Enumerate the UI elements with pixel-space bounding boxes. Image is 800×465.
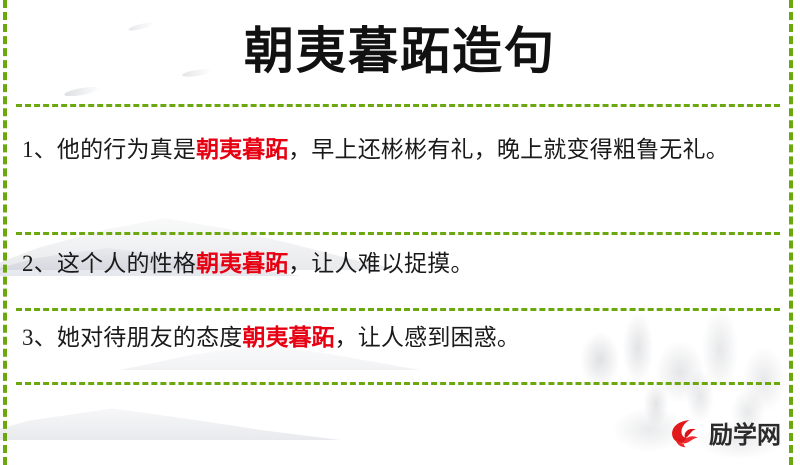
sentence-text-before: 她对待朋友的态度 [57,325,243,350]
list-item: 1、他的行为真是朝夷暮跖，早上还彬彬有礼，晚上就变得粗鲁无礼。 [22,130,774,170]
list-item: 2、这个人的性格朝夷暮跖，让人难以捉摸。 [22,244,774,284]
sentence-text-before: 这个人的性格 [57,251,196,276]
brush-stroke-icon [64,85,101,98]
sentence-text-after: ，让人难以捉摸。 [288,251,474,276]
sentence-text-after: ，早上还彬彬有礼，晚上就变得粗鲁无礼。 [288,137,729,162]
dashed-separator-1 [16,104,780,107]
list-item: 3、她对待朋友的态度朝夷暮跖，让人感到困惑。 [22,318,774,358]
page-title: 朝夷暮跖造句 [0,22,800,80]
sentence-text-after: ，让人感到困惑。 [335,325,521,350]
sentence-number: 3、 [22,325,57,350]
keyword-highlight: 朝夷暮跖 [196,250,288,277]
swirl-flame-icon [668,418,702,452]
dashed-separator-4 [16,382,780,385]
keyword-highlight: 朝夷暮跖 [196,136,288,163]
sentence-text-before: 他的行为真是 [57,137,196,162]
site-watermark-logo: 励学网 [668,418,781,452]
watermark-label: 励学网 [709,423,781,447]
mountain-watermark [0,392,340,440]
worksheet-page: 朝夷暮跖造句 1、他的行为真是朝夷暮跖，早上还彬彬有礼，晚上就变得粗鲁无礼。 2… [0,0,800,465]
dashed-separator-3 [16,308,780,311]
keyword-highlight: 朝夷暮跖 [243,324,335,351]
sentence-number: 2、 [22,251,57,276]
dashed-separator-2 [16,232,780,235]
sentence-number: 1、 [22,137,57,162]
